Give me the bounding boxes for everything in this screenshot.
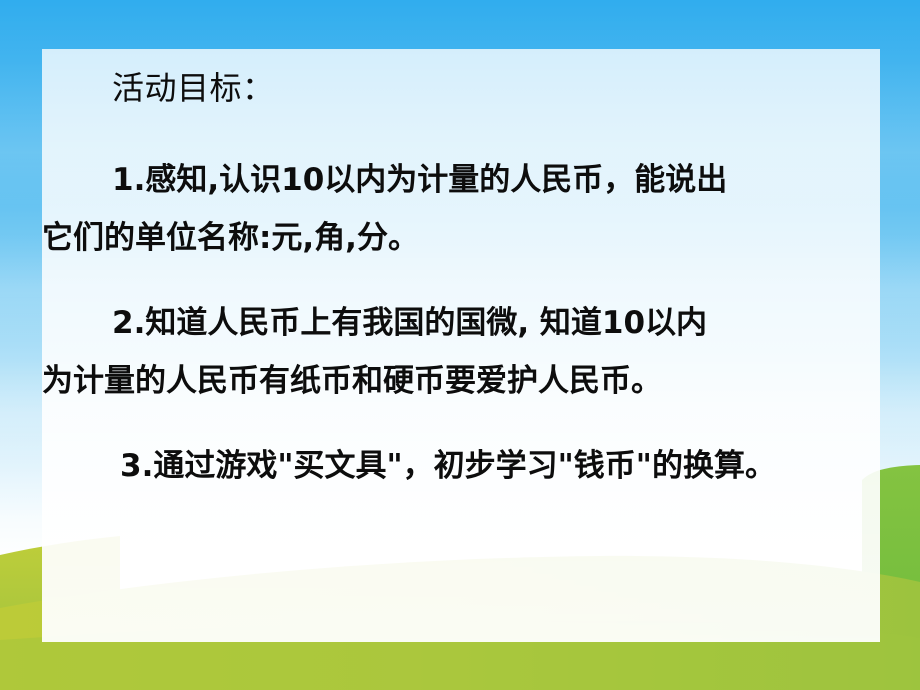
objective-3-line-1: 3.通过游戏"买文具"，初步学习"钱币"的换算。: [120, 437, 920, 495]
objective-2-line-1: 2.知道人民币上有我国的国微, 知道10以内: [112, 294, 920, 352]
objectives-heading: 活动目标：: [112, 69, 275, 107]
slide-canvas: 活动目标： 1.感知,认识10以内为计量的人民币，能说出 它们的单位名称:元,角…: [0, 0, 920, 690]
content-panel: 活动目标： 1.感知,认识10以内为计量的人民币，能说出 它们的单位名称:元,角…: [42, 49, 880, 642]
objective-2-line-2: 为计量的人民币有纸币和硬币要爱护人民币。: [42, 352, 880, 410]
objective-1-line-2: 它们的单位名称:元,角,分。: [42, 209, 880, 267]
content-panel-inner: 活动目标： 1.感知,认识10以内为计量的人民币，能说出 它们的单位名称:元,角…: [42, 49, 880, 642]
objective-1-line-1: 1.感知,认识10以内为计量的人民币，能说出: [112, 151, 920, 209]
